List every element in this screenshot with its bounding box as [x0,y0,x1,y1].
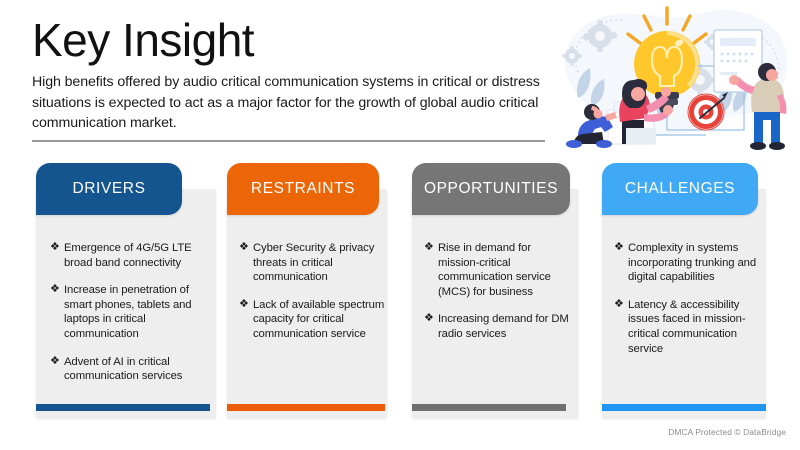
column-header-restraints[interactable]: RESTRAINTS [227,163,379,215]
footer-copyright: DMCA Protected © DataBridge [668,427,786,437]
list-item-text: Complexity in systems incorporating trun… [628,242,756,283]
column-label: OPPORTUNITIES [424,180,558,198]
diamond-bullet-icon: ❖ [239,297,249,312]
column-label: CHALLENGES [625,180,735,198]
column-bullets: ❖ Complexity in systems incorporating tr… [614,241,764,369]
diamond-bullet-icon: ❖ [424,240,434,255]
list-item-text: Cyber Security & privacy threats in crit… [253,242,374,283]
column-header-challenges[interactable]: CHALLENGES [602,163,758,215]
illustration [548,2,800,152]
column-label: DRIVERS [72,180,145,198]
page-title: Key Insight [32,12,552,68]
diamond-bullet-icon: ❖ [50,240,60,255]
pill-notch [602,215,616,231]
column-accent-bar [412,404,566,411]
column-header-drivers[interactable]: DRIVERS [36,163,182,215]
diamond-bullet-icon: ❖ [50,354,60,369]
list-item-text: Rise in demand for mission-critical comm… [438,242,551,298]
list-item: ❖ Emergence of 4G/5G LTE broad band conn… [50,241,206,270]
column-label: RESTRAINTS [251,180,355,198]
list-item-text: Increasing demand for DM radio services [438,313,569,340]
header: Key Insight High benefits offered by aud… [32,12,552,134]
column-bullets: ❖ Emergence of 4G/5G LTE broad band conn… [50,241,206,397]
list-item-text: Increase in penetration of smart phones,… [64,284,192,340]
slide-root: Key Insight High benefits offered by aud… [0,0,800,450]
pill-notch [36,215,50,231]
column-accent-bar [602,404,766,411]
column-bullets: ❖ Cyber Security & privacy threats in cr… [239,241,385,355]
list-item: ❖ Increasing demand for DM radio service… [424,312,572,341]
list-item-text: Lack of available spectrum capacity for … [253,299,384,340]
pill-notch [227,215,241,231]
list-item: ❖ Increase in penetration of smart phone… [50,283,206,341]
list-item: ❖ Lack of available spectrum capacity fo… [239,298,385,342]
list-item-text: Advent of AI in critical communication s… [64,356,182,383]
column-header-opportunities[interactable]: OPPORTUNITIES [412,163,570,215]
list-item-text: Latency & accessibility issues faced in … [628,299,746,355]
list-item: ❖ Latency & accessibility issues faced i… [614,298,764,356]
pill-notch [412,215,426,231]
list-item: ❖ Complexity in systems incorporating tr… [614,241,764,285]
list-item: ❖ Cyber Security & privacy threats in cr… [239,241,385,285]
header-divider [32,140,545,142]
insight-columns: DRIVERS ❖ Emergence of 4G/5G LTE broad b… [0,163,800,418]
column-accent-bar [227,404,385,411]
diamond-bullet-icon: ❖ [614,297,624,312]
page-subtitle: High benefits offered by audio critical … [32,72,552,134]
column-accent-bar [36,404,210,411]
list-item: ❖ Rise in demand for mission-critical co… [424,241,572,299]
list-item-text: Emergence of 4G/5G LTE broad band connec… [64,242,192,269]
column-bullets: ❖ Rise in demand for mission-critical co… [424,241,572,355]
diamond-bullet-icon: ❖ [50,282,60,297]
list-item: ❖ Advent of AI in critical communication… [50,355,206,384]
diamond-bullet-icon: ❖ [239,240,249,255]
diamond-bullet-icon: ❖ [614,240,624,255]
diamond-bullet-icon: ❖ [424,311,434,326]
